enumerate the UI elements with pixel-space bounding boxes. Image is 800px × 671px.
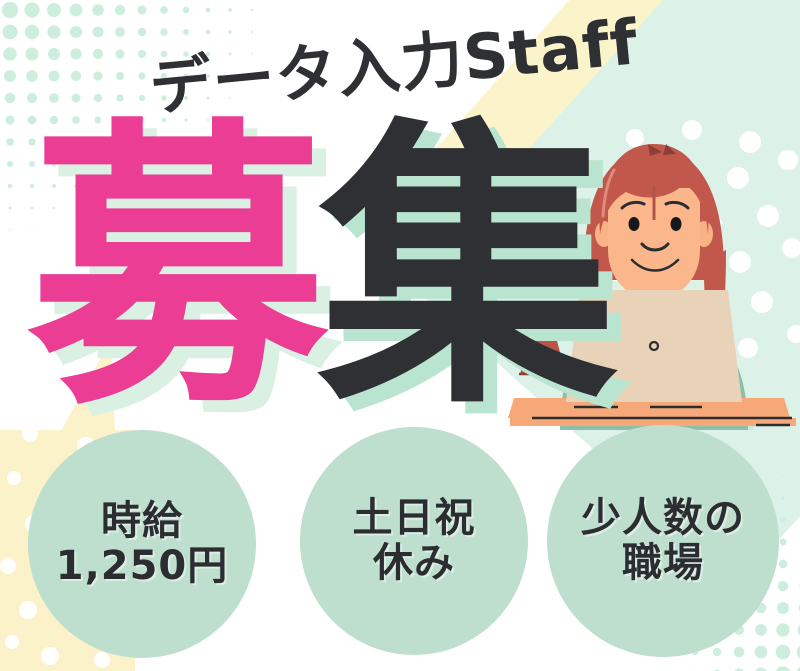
decor-dot bbox=[782, 475, 784, 477]
decor-dot bbox=[115, 49, 124, 58]
decor-dot bbox=[3, 47, 17, 61]
decor-dot bbox=[26, 48, 39, 61]
decor-dot bbox=[780, 517, 785, 522]
decor-dot bbox=[70, 26, 82, 38]
decor-dot bbox=[777, 602, 789, 614]
decor-dot bbox=[8, 206, 11, 209]
decor-dot bbox=[26, 70, 38, 82]
decor-dot bbox=[47, 25, 60, 38]
decor-dot bbox=[3, 25, 18, 40]
decor-dot bbox=[48, 48, 60, 60]
decor-dot bbox=[734, 647, 745, 658]
decor-dot bbox=[137, 5, 146, 14]
feature-circle-team-size: 少人数の 職場 bbox=[547, 425, 779, 657]
decor-dot bbox=[2, 2, 18, 18]
decor-dot bbox=[228, 8, 232, 12]
decor-dot bbox=[776, 623, 789, 636]
decor-dot bbox=[138, 28, 147, 37]
decor-dot bbox=[160, 6, 168, 14]
decor-dot bbox=[94, 652, 110, 668]
decor-dot bbox=[160, 28, 167, 35]
decor-dot bbox=[49, 71, 60, 82]
decor-dot bbox=[116, 72, 124, 80]
decor-dot bbox=[780, 539, 787, 546]
decor-dot bbox=[775, 666, 790, 671]
feature-text-team-size: 少人数の 職場 bbox=[581, 496, 745, 586]
feature-line-2: 職場 bbox=[581, 541, 745, 586]
feature-line-2: 1,250円 bbox=[56, 544, 229, 589]
decor-dot bbox=[92, 4, 104, 16]
main-word: 募集 bbox=[28, 120, 608, 420]
feature-line-2: 休み bbox=[353, 541, 476, 586]
decor-dot bbox=[251, 31, 253, 33]
decor-dot bbox=[138, 72, 145, 79]
feature-circle-wage: 時給 1,250円 bbox=[28, 430, 256, 658]
decor-dot bbox=[93, 71, 102, 80]
decor-dot bbox=[781, 496, 784, 499]
decor-dot bbox=[115, 5, 125, 15]
decor-dot bbox=[4, 70, 16, 82]
eye-left bbox=[629, 217, 640, 231]
decor-dot bbox=[41, 647, 59, 665]
decor-dot bbox=[7, 471, 21, 485]
decor-dot bbox=[8, 184, 13, 189]
decor-dot bbox=[9, 229, 11, 231]
decor-dot bbox=[5, 93, 16, 104]
decor-dot bbox=[251, 9, 254, 12]
decor-dot bbox=[25, 25, 39, 39]
decor-dot bbox=[183, 7, 189, 13]
decor-dot bbox=[713, 648, 721, 656]
feature-circle-days-off: 土日祝 休み bbox=[300, 427, 528, 655]
decor-dot bbox=[778, 581, 788, 591]
decor-dot bbox=[205, 7, 210, 12]
decor-dot bbox=[138, 50, 146, 58]
decor-dot bbox=[24, 2, 39, 17]
decor-dot bbox=[115, 27, 125, 37]
feature-line-1: 少人数の bbox=[581, 496, 745, 541]
decor-dot bbox=[70, 48, 81, 59]
decor-dot bbox=[779, 560, 788, 569]
job-ad-poster: データ入力Staff 募集 時給 1,250円 土日祝 休み 少人数の 職場 bbox=[0, 0, 800, 671]
decor-dot bbox=[5, 115, 14, 124]
feature-text-wage: 時給 1,250円 bbox=[56, 499, 229, 589]
decor-dot bbox=[92, 26, 103, 37]
decor-dot bbox=[228, 30, 232, 34]
eye-right bbox=[671, 217, 682, 231]
decor-dot bbox=[6, 138, 14, 146]
decor-dot bbox=[47, 3, 61, 17]
feature-line-1: 時給 bbox=[56, 499, 229, 544]
decor-dot bbox=[7, 161, 13, 167]
main-word-char-2: 集 bbox=[318, 95, 608, 444]
main-word-char-1: 募 bbox=[28, 95, 318, 444]
decor-dot bbox=[183, 29, 189, 35]
decor-dot bbox=[776, 645, 791, 660]
decor-dot bbox=[70, 4, 83, 17]
decor-dot bbox=[71, 71, 81, 81]
decor-dot bbox=[796, 665, 800, 671]
feature-line-1: 土日祝 bbox=[353, 496, 476, 541]
decor-dot bbox=[0, 558, 16, 574]
decor-dot bbox=[206, 30, 211, 35]
decor-dot bbox=[5, 635, 19, 649]
feature-text-days-off: 土日祝 休み bbox=[353, 496, 476, 586]
decor-dot bbox=[755, 624, 767, 636]
decor-dot bbox=[755, 646, 768, 659]
decor-dot bbox=[19, 601, 37, 619]
decor-dot bbox=[93, 49, 103, 59]
decor-dot bbox=[754, 667, 767, 671]
